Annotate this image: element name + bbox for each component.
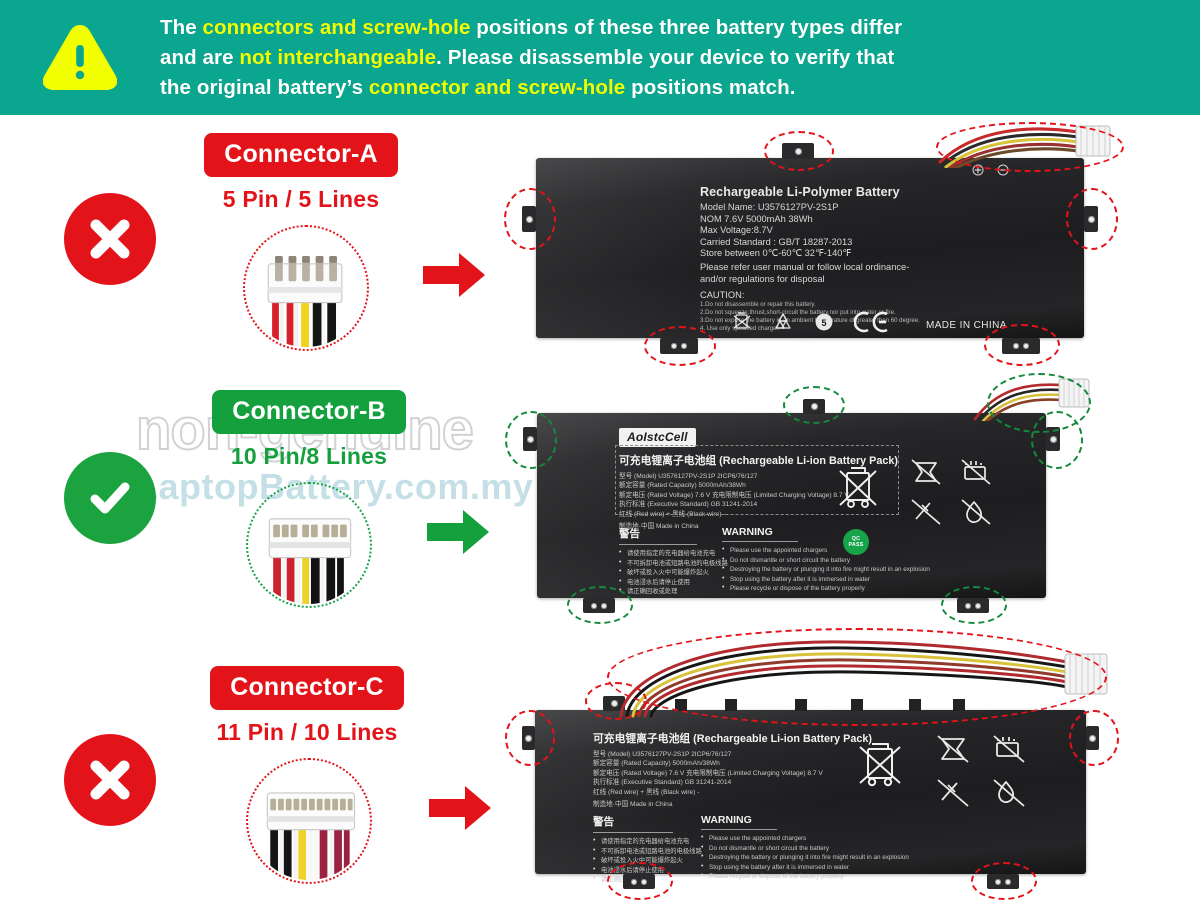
green-check-icon — [64, 452, 156, 544]
connector-10pin-photo — [246, 482, 372, 608]
battery-a-caution-line: 1.Do not disassemble or repair this batt… — [700, 301, 1060, 309]
battery-b-warn-cn-item: 请正确回收或处理 — [619, 587, 681, 597]
battery-c-label: 可充电锂离子电池组 (Rechargeable Li-ion Battery P… — [593, 730, 893, 809]
banner-line-3: the original battery’s connector and scr… — [160, 73, 902, 103]
banner-line3-a: the original battery’s — [160, 76, 369, 99]
battery-a-line: and/or regulations for disposal — [700, 274, 1060, 286]
battery-a-line: Carried Standard : GB/T 18287-2013 — [700, 237, 1060, 249]
battery-b-warn-cn-item: 不可拆卸电池或短路电池的电极线路 — [619, 559, 681, 569]
banner-text: The connectors and screw-hole positions … — [160, 13, 942, 103]
screw-tab-bottom-left — [583, 598, 615, 613]
battery-a-made-in: MADE IN CHINA — [926, 320, 1007, 331]
svg-text:5: 5 — [821, 318, 826, 328]
battery-c-warn-cn-item: 破坏或投入火中可能爆炸起火 — [593, 856, 659, 866]
battery-c-warning-en: WARNING Please use the appointed charger… — [701, 814, 909, 882]
connector-b-pin-text: 10 Pin/8 Lines — [196, 443, 422, 470]
battery-a-cable-bundle — [936, 122, 1116, 168]
screw-tab-top — [803, 399, 825, 414]
battery-c-title: 可充电锂离子电池组 (Rechargeable Li-ion Battery P… — [593, 730, 893, 746]
battery-b-prohibition-icons — [910, 457, 1010, 529]
connector-b-label-block: Connector-B 10 Pin/8 Lines — [196, 390, 422, 470]
connector-a-label-block: Connector-A 5 Pin / 5 Lines — [190, 133, 412, 213]
battery-b-warn-head-cn: 警告 — [619, 526, 681, 541]
battery-a-line: Please refer user manual or follow local… — [700, 262, 1060, 274]
battery-c-prohibition-icons — [935, 732, 1045, 810]
battery-b-warn-en-item: Please recycle or dispose of the battery… — [722, 584, 930, 594]
battery-a-line: Store between 0℃-60℃ 32℉-140℉ — [700, 248, 1060, 260]
battery-c-line: 额定容量 (Rated Capacity) 5000mAh/38Wh — [593, 759, 893, 768]
banner-line-2: and are not interchangeable. Please disa… — [160, 43, 902, 73]
connector-a-badge: Connector-A — [204, 133, 398, 177]
row-connector-a: Connector-A 5 Pin / 5 Lines — [0, 115, 1200, 373]
battery-a-title: Rechargeable Li-Polymer Battery — [700, 185, 1060, 199]
right-arrow-icon — [423, 253, 485, 302]
no-fire-icon — [994, 736, 1024, 762]
battery-c-warn-en-item: Please use the appointed chargers — [701, 834, 909, 844]
connector-c-label-block: Connector-C 11 Pin / 10 Lines — [188, 666, 426, 746]
battery-c-warn-en-item: Please recycle or dispose of the battery… — [701, 872, 909, 882]
banner-line2-a: and are — [160, 46, 239, 69]
battery-pack-b: AoIstcCell 可充电锂离子电池组 (Rechargeable Li-io… — [537, 413, 1046, 598]
screw-tab-right — [1046, 427, 1060, 451]
no-crush-icon — [912, 460, 940, 484]
battery-b-cable-bundle — [967, 377, 1097, 421]
red-cross-icon — [64, 193, 156, 285]
recycle-icon — [772, 311, 794, 333]
screw-tab-bottom-right — [957, 598, 989, 613]
screw-tab-top — [782, 143, 814, 159]
battery-b-warn-en-item: Please use the appointed chargers — [722, 546, 930, 556]
battery-c-line: 额定电压 (Rated Voltage) 7.6 V 充电限制电压 (Limit… — [593, 769, 893, 778]
screw-tab-bottom-left — [623, 874, 655, 889]
row-connector-b: non-genuine LaptopBattery.com.my Connect… — [0, 374, 1200, 633]
ce-mark-icon — [854, 311, 890, 333]
qc-pass-line2: PASS — [848, 542, 863, 548]
battery-a-caution-head: CAUTION: — [700, 290, 1060, 300]
wheelie-bin-icon — [857, 736, 903, 792]
no-water-icon — [994, 780, 1024, 806]
banner-line2-highlight: not interchangeable — [239, 46, 436, 69]
battery-a-line: Model Name: U3576127PV-2S1P — [700, 202, 1060, 214]
china-recycle-icon: 5 — [814, 312, 834, 332]
banner-line-1: The connectors and screw-hole positions … — [160, 13, 902, 43]
connector-11pin-photo — [246, 758, 372, 884]
banner-line3-b: positions match. — [625, 76, 795, 99]
screw-tab-left — [522, 206, 536, 232]
connector-b-badge: Connector-B — [212, 390, 406, 434]
battery-b-warn-cn-item: 请使用指定的充电器给电池充电 — [619, 549, 681, 559]
no-crush-icon — [938, 736, 968, 762]
no-fire-icon — [962, 460, 990, 484]
wheelie-bin-icon — [837, 461, 879, 513]
right-arrow-icon — [429, 786, 491, 835]
battery-a-symbols: 5 — [732, 310, 890, 334]
battery-b-warn-en-item: Destroying the battery or plunging it in… — [722, 565, 930, 575]
battery-c-warn-en-item: Do not dismantle or short circuit the ba… — [701, 844, 909, 854]
battery-b-warn-cn-item: 破坏或投入火中可能爆炸起火 — [619, 568, 681, 578]
battery-c-warn-cn-item: 不可拆卸电池或短路电池的电极线路 — [593, 847, 659, 857]
battery-pack-a: Rechargeable Li-Polymer Battery Model Na… — [536, 158, 1084, 338]
battery-c-warn-en-item: Stop using the battery after it is immer… — [701, 863, 909, 873]
battery-c-warn-en-item: Destroying the battery or plunging it in… — [701, 853, 909, 863]
connector-a-pin-text: 5 Pin / 5 Lines — [190, 186, 412, 213]
battery-b-warning-en: WARNING Please use the appointed charger… — [722, 526, 930, 594]
battery-b-warn-en-item: Stop using the battery after it is immer… — [722, 575, 930, 585]
red-cross-icon — [64, 734, 156, 826]
wheelie-bin-icon — [732, 310, 752, 334]
battery-c-warn-head-en: WARNING — [701, 814, 909, 826]
screw-tab-left — [523, 427, 537, 451]
battery-a-line: Max Voltage:8.7V — [700, 225, 1060, 237]
battery-b-warn-head-en: WARNING — [722, 526, 930, 538]
battery-c-cable-bundle — [615, 632, 1115, 718]
battery-pack-c: 可充电锂离子电池组 (Rechargeable Li-ion Battery P… — [535, 710, 1086, 874]
battery-b-warning-cn: 警告 请使用指定的充电器给电池充电 不可拆卸电池或短路电池的电极线路 破坏或投入… — [619, 526, 681, 597]
screw-tab-bottom-right — [987, 874, 1019, 889]
screw-tab-bottom-right — [1002, 338, 1040, 354]
connector-c-badge: Connector-C — [210, 666, 404, 710]
banner-line1-highlight: connectors and screw-hole — [203, 16, 471, 39]
battery-c-warn-cn-item: 请使用指定的充电器给电池充电 — [593, 837, 659, 847]
battery-a-line: NOM 7.6V 5000mAh 38Wh — [700, 214, 1060, 226]
screw-tab-right — [1086, 726, 1099, 750]
no-disassemble-icon — [938, 780, 968, 806]
battery-c-line: 执行标准 (Executive Standard) GB 31241-2014 — [593, 778, 893, 787]
right-arrow-icon — [427, 510, 489, 559]
banner-line3-highlight: connector and screw-hole — [369, 76, 625, 99]
battery-c-line: 制造地·中国 Made in China — [593, 800, 893, 809]
no-disassemble-icon — [912, 500, 940, 524]
screw-tab-bottom-left — [660, 338, 698, 354]
qc-pass-badge: QC PASS — [843, 529, 869, 555]
battery-c-line: 型号 (Model) U3576127PV-2S1P 2ICP6/76/127 — [593, 750, 893, 759]
battery-c-warn-head-cn: 警告 — [593, 814, 659, 829]
no-water-icon — [962, 500, 990, 524]
connector-c-pin-text: 11 Pin / 10 Lines — [188, 719, 426, 746]
row-connector-c: Connector-C 11 Pin / 10 Lines — [0, 634, 1200, 900]
banner-line1-b: positions of these three battery types d… — [470, 16, 902, 39]
screw-tab-right — [1084, 206, 1098, 232]
battery-c-line: 红线 (Red wire) + 黑线 (Black wire) - — [593, 788, 893, 797]
screw-tab-left — [522, 726, 535, 750]
battery-b-warn-en-item: Do not dismantle or short circuit the ba… — [722, 556, 930, 566]
connector-5pin-photo — [243, 225, 369, 351]
banner-line2-b: . Please disassemble your device to veri… — [436, 46, 894, 69]
warning-banner: The connectors and screw-hole positions … — [0, 0, 1200, 115]
warning-triangle-icon — [0, 0, 160, 115]
battery-b-warn-cn-item: 电池浸水后请停止使用 — [619, 578, 681, 588]
banner-line1-a: The — [160, 16, 203, 39]
